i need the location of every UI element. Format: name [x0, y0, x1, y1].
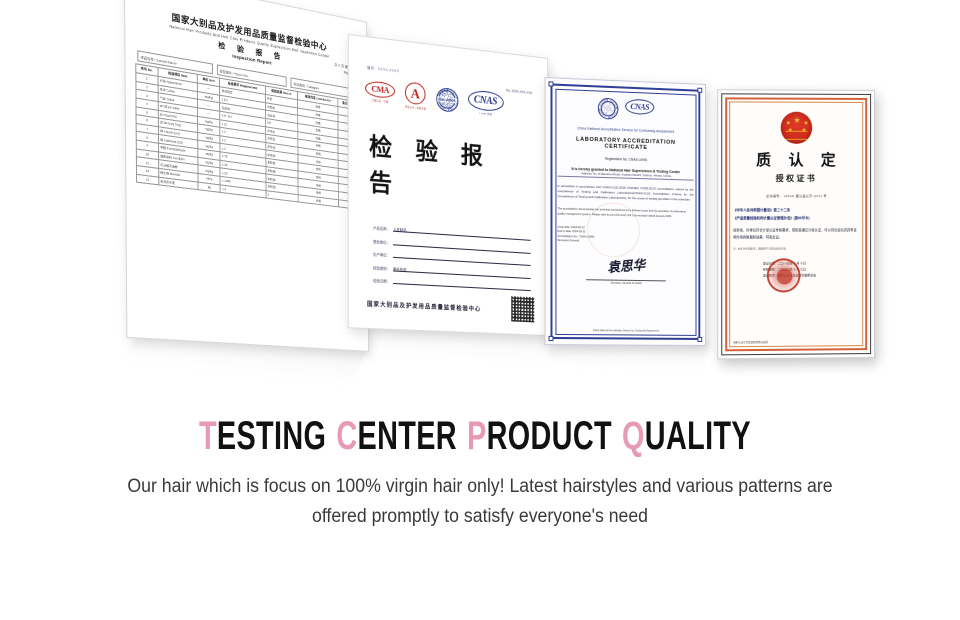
doc3-corner-br	[697, 337, 702, 342]
cnas-oval-logo-icon: CNAS	[625, 99, 654, 115]
page-subtitle: Our hair which is focus on 100% virgin h…	[62, 472, 899, 532]
doc2-form-label-2: 生产单位：	[373, 251, 390, 257]
doc3-registration: Registration No. CNAS L0991	[557, 155, 693, 163]
doc4-body: 经审查，你单位符合计量认证考核要求，现批准通过计量认证，可以向社会出具具有证明作…	[733, 227, 859, 241]
ilac-mra-text: ilac-MRA	[437, 96, 456, 103]
doc3-signature: 袁思华	[557, 251, 693, 280]
cma-logo: CMA 计量认证 / 中国	[365, 80, 395, 104]
doc4-content: ★ ★ ★ ★ ★ 质 认 定 授权证书 证书编号： (2014) 国认监认字 …	[733, 107, 859, 344]
doc3-body: is accredited in accordance with CNAS-CL…	[557, 184, 693, 203]
certificate-quality-authorization[interactable]: ★ ★ ★ ★ ★ 质 认 定 授权证书 证书编号： (2014) 国认监认字 …	[717, 89, 875, 359]
doc3-corner-tl	[548, 81, 553, 86]
headline-word-0: TESTING	[199, 414, 326, 458]
doc2-big-title: 检 验 报 告	[369, 126, 534, 210]
cnas-logo-caption: L 0991 检测	[468, 110, 504, 118]
ilac-mra-logo: ilac-MRA	[436, 86, 458, 112]
official-red-seal-icon	[767, 258, 801, 292]
certificate-report-cover[interactable]: 编号：XXXX-XXXX No. 20XX-XXX-XXX CMA 计量认证 /…	[348, 34, 548, 336]
headline-word-2: PRODUCT	[467, 414, 612, 458]
headline-word-0-cap: T	[199, 414, 217, 458]
doc4-subtitle: 授权证书	[733, 173, 859, 184]
doc2-form-label-3: 检验类别：	[373, 265, 390, 271]
cnas-logo-icon: CNAS	[468, 89, 504, 112]
subtitle-line-2: offered promptly to satisfy everyone's n…	[62, 502, 899, 532]
doc2-form-line-0: 产品名称：人发制品	[373, 225, 531, 241]
headline-word-3-cap: Q	[622, 414, 645, 458]
emblem-star-0: ★	[793, 117, 800, 125]
cal-logo: A 审查认可 / 验收合格	[405, 81, 426, 110]
doc2-form-value-1	[393, 240, 531, 254]
doc2-footer: 国家大别品及护发用品质量监督检验中心	[367, 300, 534, 316]
headline-word-0-rest: ESTING	[217, 414, 326, 458]
doc4-law-line-1: 《中华人民共和国计量法》第二十二条	[733, 207, 859, 212]
doc2-form-label-4: 检验日期：	[373, 278, 390, 284]
headline-word-1: CENTER	[336, 414, 457, 458]
doc2-form-line-4: 检验日期：	[373, 278, 531, 291]
headline-word-3-rest: UALITY	[645, 414, 751, 458]
doc1-cell-12-2: 级	[198, 182, 220, 193]
certificate-lab-accreditation[interactable]: CNAS China National Accreditation Servic…	[545, 77, 706, 346]
doc4-law-line-2: 《产品质量检验机构计量认证管理办法》(第86号令)	[733, 215, 859, 220]
cma-logo-caption: 计量认证 / 中国	[365, 97, 395, 104]
doc2-form-line-1: 受检单位：	[373, 238, 531, 253]
page-title: TESTINGCENTERPRODUCTQUALITY	[134, 414, 825, 458]
doc3-title: LABORATORY ACCREDITATION CERTIFICATE	[557, 136, 693, 153]
subtitle-line-1: Our hair which is focus on 100% virgin h…	[62, 472, 899, 502]
emblem-star-1: ★	[786, 121, 791, 127]
doc4-dates: 发证日期：二〇一四年 十月 十日有效期至：二〇二〇年 十月 九日发证机关：国家认…	[733, 260, 859, 280]
doc2-form-value-0: 人发制品	[393, 226, 531, 240]
certificate-inspection-report[interactable]: 国家大别品及护发用品质量监督检验中心 National Hair Product…	[124, 0, 369, 352]
doc1-cell-12-0: 13	[136, 174, 158, 185]
headline-word-2-rest: RODUCT	[487, 414, 612, 458]
doc3-corner-bl	[548, 336, 553, 341]
doc3-footer: China National Accreditation Service for…	[557, 329, 693, 333]
doc2-form-value-2	[393, 253, 531, 266]
doc4-note: 注：本证书有效期6年，期满前6个月提出复查申请。	[733, 247, 859, 252]
headline-word-3: QUALITY	[622, 414, 751, 458]
emblem-star-3: ★	[788, 128, 793, 134]
doc2-form-lines: 产品名称：人发制品受检单位：生产单位：检验类别：委托检验检验日期：	[373, 225, 531, 291]
cma-logo-icon: CMA	[365, 80, 395, 99]
page-root: 国家大别品及护发用品质量监督检验中心 National Hair Product…	[0, 0, 960, 620]
doc2-form-value-3: 委托检验	[393, 266, 531, 279]
emblem-star-4: ★	[801, 128, 806, 134]
cnas-logo: CNAS L 0991 检测	[468, 89, 504, 117]
doc2-form-line-3: 检验类别：委托检验	[373, 265, 531, 279]
doc4-title: 质 认 定	[739, 149, 859, 170]
doc3-signature-caption: Secretary General of CNAS	[586, 279, 665, 285]
emblem-star-2: ★	[803, 121, 808, 127]
national-emblem-icon: ★ ★ ★ ★ ★	[781, 112, 813, 144]
doc3-header-line: China National Accreditation Service for…	[557, 126, 693, 135]
headline-word-2-cap: P	[467, 414, 487, 458]
doc2-form-value-4	[393, 279, 531, 291]
headline-word-1-rest: ENTER	[358, 414, 457, 458]
doc2-form-label-0: 产品名称：	[373, 225, 390, 231]
doc3-seal-icon	[587, 202, 640, 258]
qr-code-icon	[511, 296, 534, 322]
headline-word-1-cap: C	[336, 414, 357, 458]
doc2-form-line-2: 生产单位：	[373, 251, 531, 266]
doc3-corner-tr	[697, 88, 702, 93]
cal-logo-icon: A	[405, 81, 426, 105]
ilac-mra-logo-icon: ilac-MRA	[436, 86, 458, 112]
certificate-gallery: 国家大别品及护发用品质量监督检验中心 National Hair Product…	[0, 0, 960, 400]
doc3-logo-row: CNAS	[557, 96, 693, 123]
doc4-cert-no: 证书编号： (2014) 国认监认字 (071) 号	[733, 193, 859, 198]
cnas-round-logo-icon	[598, 98, 619, 120]
doc2-form-label-1: 受检单位：	[373, 238, 390, 244]
cal-logo-caption: 审查认可 / 验收合格	[405, 104, 426, 110]
